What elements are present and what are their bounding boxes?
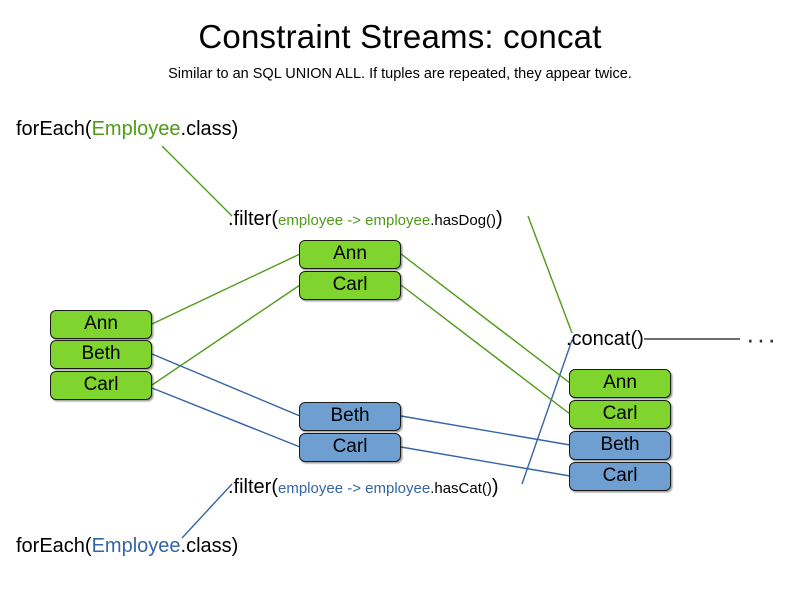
foreach-top-suffix: .class)	[181, 118, 239, 140]
node-result-carl-dog[interactable]: Carl	[569, 400, 671, 429]
foreach-bottom-suffix: .class)	[181, 535, 239, 557]
label-concat: .concat()	[566, 328, 644, 351]
leader-filter-cat-to-concat	[522, 340, 572, 484]
filter-cat-suffix: )	[492, 476, 499, 498]
node-result-carl-cat[interactable]: Carl	[569, 462, 671, 491]
filter-dog-prefix: .filter(	[228, 208, 278, 230]
node-dog-carl[interactable]: Carl	[299, 271, 401, 300]
filter-dog-method: .hasDog()	[430, 212, 496, 229]
label-foreach-bottom: forEach(Employee.class)	[16, 535, 238, 558]
node-dog-ann[interactable]: Ann	[299, 240, 401, 269]
leader-foreach-bottom	[182, 484, 232, 538]
page-title: Constraint Streams: concat	[0, 18, 800, 56]
leader-foreach-top	[162, 146, 232, 216]
edge-source-beth-to-cat-beth	[152, 354, 300, 416]
filter-cat-receiver: employee	[365, 480, 430, 497]
filter-cat-param: employee	[278, 480, 343, 497]
label-foreach-top: forEach(Employee.class)	[16, 118, 238, 141]
edge-source-carl-to-dog-carl	[152, 285, 300, 385]
foreach-bottom-arg: Employee	[92, 535, 181, 557]
ellipsis-continuation: ···	[746, 324, 778, 355]
leader-filter-dog-to-concat	[528, 216, 572, 333]
edge-dog-ann-to-result-ann	[401, 254, 570, 383]
foreach-top-prefix: forEach(	[16, 118, 92, 140]
edge-source-carl-to-cat-carl	[152, 388, 300, 447]
label-filter-has-cat: .filter(employee -> employee.hasCat())	[228, 476, 499, 499]
filter-cat-arrow: ->	[343, 480, 365, 497]
filter-cat-prefix: .filter(	[228, 476, 278, 498]
node-cat-carl[interactable]: Carl	[299, 433, 401, 462]
filter-cat-method: .hasCat()	[430, 480, 492, 497]
filter-dog-suffix: )	[496, 208, 503, 230]
node-result-ann[interactable]: Ann	[569, 369, 671, 398]
edge-cat-carl-to-result-carl	[401, 447, 570, 476]
filter-dog-receiver: employee	[365, 212, 430, 229]
label-filter-has-dog: .filter(employee -> employee.hasDog())	[228, 208, 503, 231]
filter-dog-arrow: ->	[343, 212, 365, 229]
foreach-top-arg: Employee	[92, 118, 181, 140]
edge-dog-carl-to-result-carl	[401, 285, 570, 414]
edge-source-ann-to-dog-ann	[152, 254, 300, 324]
filter-dog-param: employee	[278, 212, 343, 229]
connector-lines	[0, 0, 800, 600]
node-source-ann[interactable]: Ann	[50, 310, 152, 339]
foreach-bottom-prefix: forEach(	[16, 535, 92, 557]
diagram-canvas: Constraint Streams: concat Similar to an…	[0, 0, 800, 600]
node-cat-beth[interactable]: Beth	[299, 402, 401, 431]
node-result-beth[interactable]: Beth	[569, 431, 671, 460]
node-source-carl[interactable]: Carl	[50, 371, 152, 400]
node-source-beth[interactable]: Beth	[50, 340, 152, 369]
page-subtitle: Similar to an SQL UNION ALL. If tuples a…	[0, 66, 800, 82]
